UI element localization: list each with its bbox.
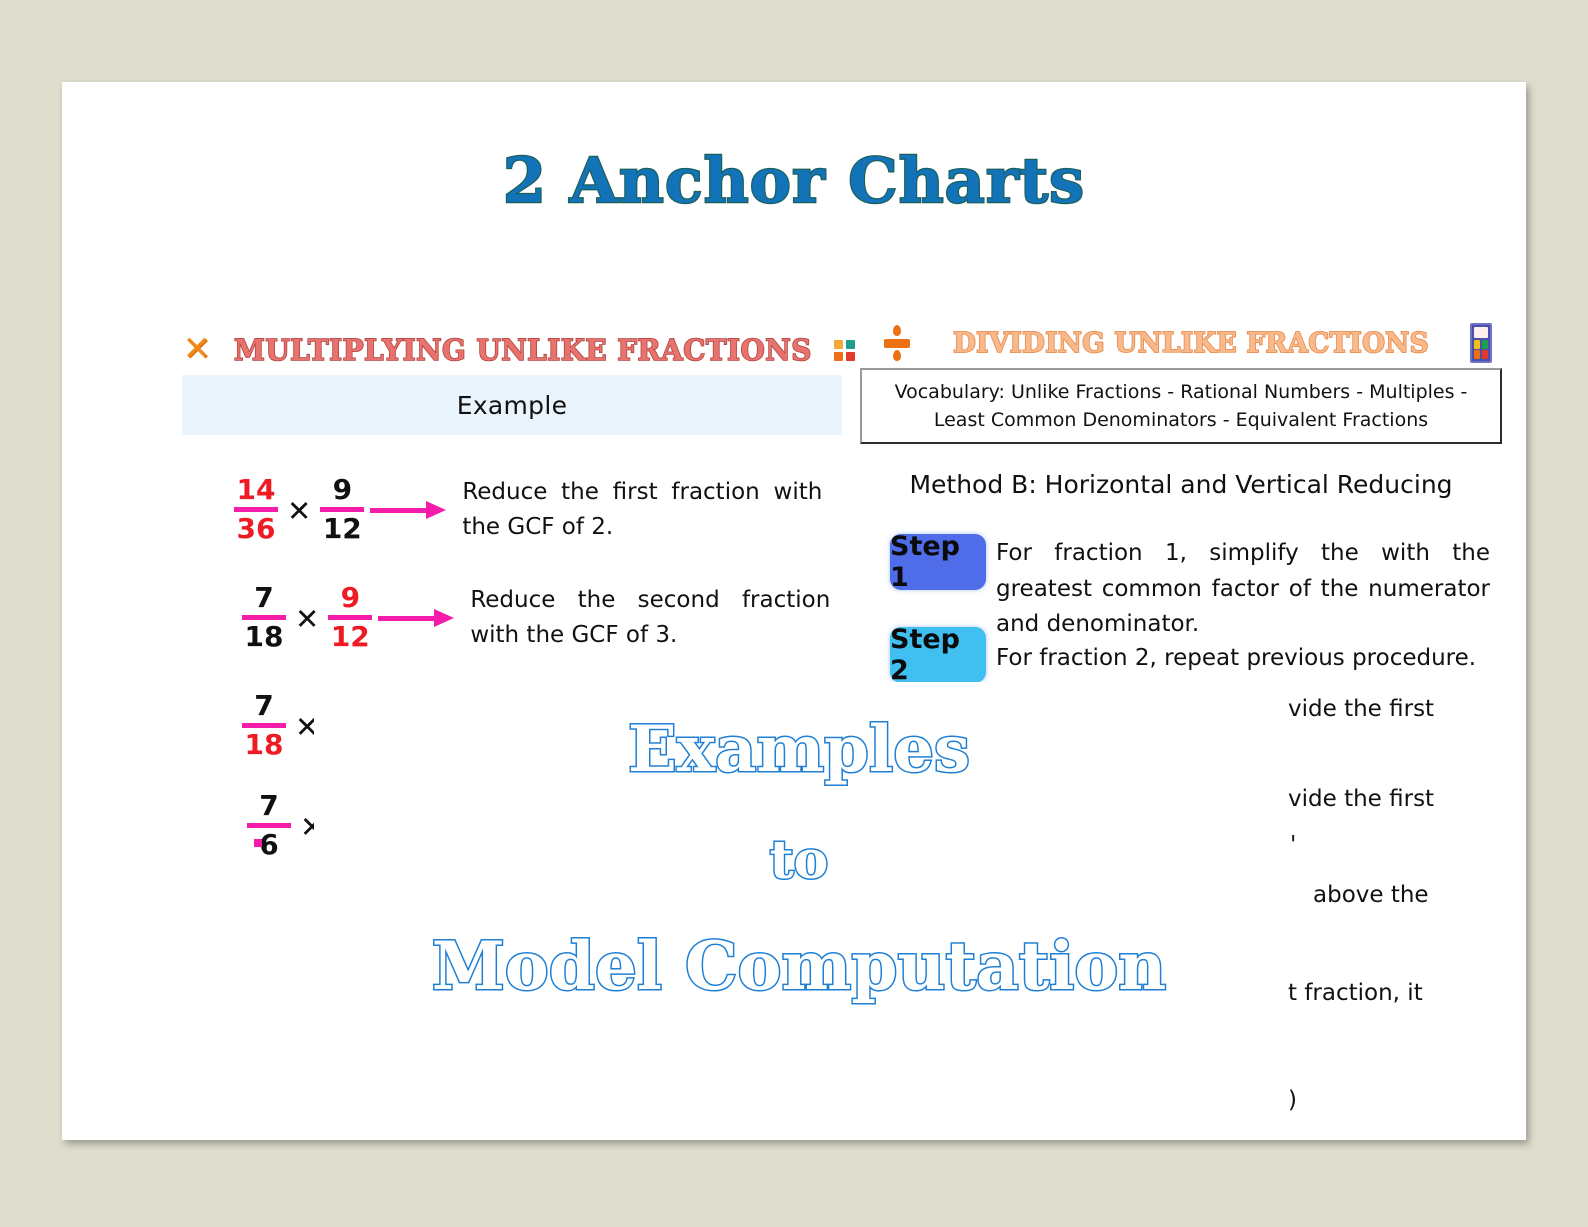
multiply-operator: ✕ [295, 602, 319, 636]
occluded-text-fragment: vide the first [1288, 696, 1434, 722]
arrow-icon [370, 505, 448, 515]
numerator: 7 [259, 790, 278, 822]
step-1-badge: Step 1 [890, 534, 986, 590]
step-2-text: For fraction 2, repeat previous procedur… [996, 627, 1490, 677]
example-label: Example [457, 391, 568, 420]
fraction-first: 7 18 [242, 690, 286, 761]
right-chart-heading: DIVIDING UNLIKE FRACTIONS [928, 328, 1454, 359]
fraction-first: 7 18 [242, 582, 286, 653]
step-row: Step 2 For fraction 2, repeat previous p… [890, 627, 1490, 683]
fraction-row: 14 36 ✕ 9 12 Reduce the first fraction w… [234, 474, 822, 545]
occluded-text-fragment: t fraction, it [1288, 980, 1423, 1006]
step-2-badge: Step 2 [890, 627, 986, 683]
example-band: Example [182, 375, 842, 435]
page-title: 2 Anchor Charts [62, 144, 1526, 217]
vocabulary-box: Vocabulary: Unlike Fractions - Rational … [860, 368, 1502, 444]
denominator: 36 [237, 513, 276, 545]
overlay-headline-line-3: Model Computation [314, 927, 1284, 1005]
numerator: 9 [341, 582, 360, 614]
fraction-row: 7 18 ✕ 9 12 Reduce the second fraction w… [242, 582, 830, 653]
numerator: 7 [254, 582, 273, 614]
numerator: 9 [333, 474, 352, 506]
numerator: 7 [254, 690, 273, 722]
occluded-text-fragment: ' [1290, 832, 1296, 858]
left-chart-header: ✕ MULTIPLYING UNLIKE FRACTIONS [182, 328, 842, 372]
divide-icon [882, 324, 912, 362]
denominator: 18 [245, 621, 284, 653]
vocabulary-line-2: Least Common Denominators - Equivalent F… [934, 409, 1428, 431]
multiply-operator: ✕ [287, 494, 311, 528]
fraction-first: 7 6 [247, 790, 291, 861]
occluded-text-fragment: vide the first [1288, 786, 1434, 812]
numerator: 14 [237, 474, 276, 506]
overlay-headline-line-2: to [314, 830, 1284, 891]
method-title: Method B: Horizontal and Vertical Reduci… [860, 470, 1502, 499]
fraction-second: 9 12 [328, 582, 372, 653]
denominator: 18 [245, 729, 284, 761]
fragment-dot [254, 839, 262, 847]
calculator-icon [1470, 323, 1492, 363]
occluded-text-fragment: ) [1288, 1087, 1297, 1113]
vocabulary-line-1: Vocabulary: Unlike Fractions - Rational … [895, 381, 1468, 403]
multiply-x-icon: ✕ [182, 334, 212, 366]
left-chart-heading: MULTIPLYING UNLIKE FRACTIONS [234, 333, 812, 367]
denominator: 12 [323, 513, 362, 545]
color-grid-icon [834, 340, 855, 361]
fraction-second: 9 12 [320, 474, 364, 545]
denominator: 6 [259, 829, 278, 861]
overlay-headline-line-1: Examples [314, 712, 1284, 787]
arrow-icon [378, 613, 456, 623]
fraction-first: 14 36 [234, 474, 278, 545]
occluded-text-fragment: above the [1313, 882, 1429, 908]
row-instruction: Reduce the second fraction with the GCF … [470, 583, 830, 652]
row-instruction: Reduce the first fraction with the GCF o… [462, 475, 822, 544]
slide-page: 2 Anchor Charts ✕ MULTIPLYING UNLIKE FRA… [62, 82, 1526, 1140]
denominator: 12 [331, 621, 370, 653]
right-chart-header: DIVIDING UNLIKE FRACTIONS [882, 320, 1492, 366]
